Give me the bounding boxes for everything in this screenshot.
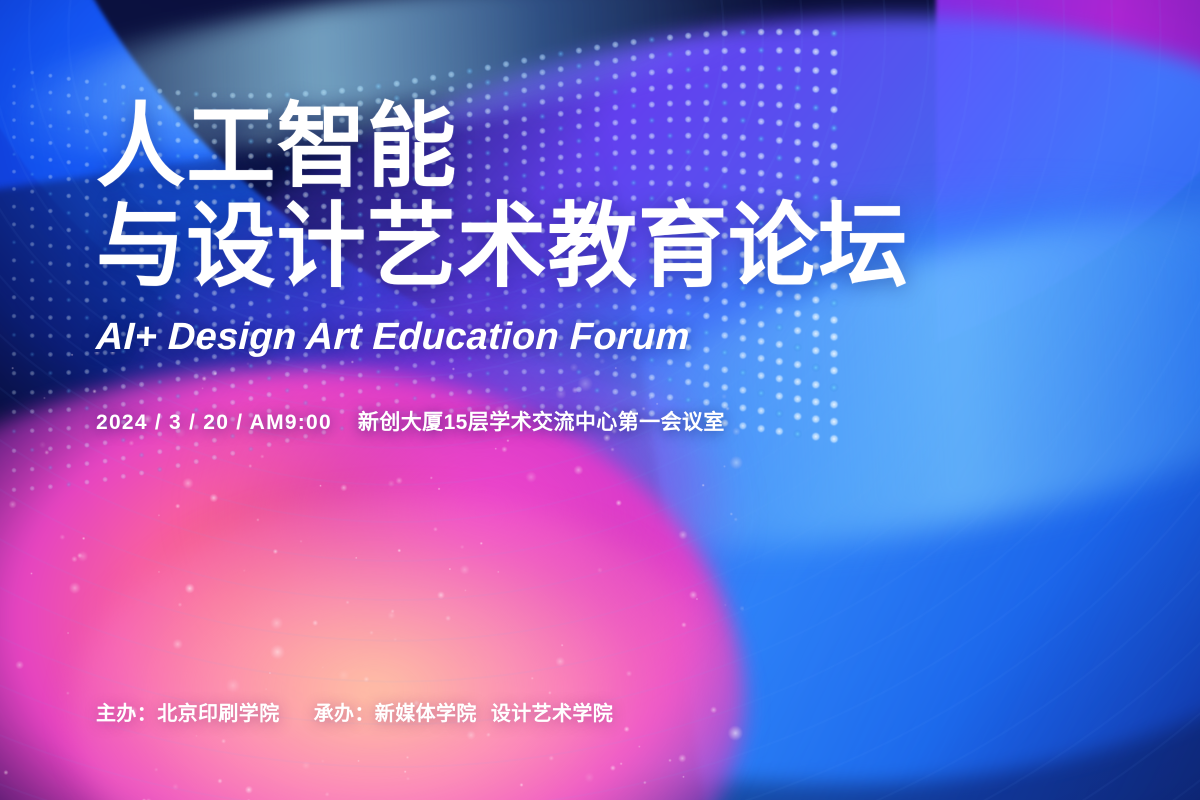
- poster-title-line-1: 人工智能: [96, 104, 909, 190]
- coorganizer-organization-2: 设计艺术学院: [491, 697, 613, 726]
- forum-poster: 人工智能 与设计艺术教育论坛 AI+ Design Art Education …: [0, 0, 1200, 800]
- title-block: 人工智能 与设计艺术教育论坛: [96, 104, 934, 291]
- event-date: 2024 / 3 / 20 / AM9:00: [96, 411, 332, 435]
- poster-title-line-2: 与设计艺术教育论坛: [96, 204, 909, 290]
- event-meta: 2024 / 3 / 20 / AM9:00 新创大厦15层学术交流中心第一会议…: [96, 406, 725, 436]
- coorganizer-organization: 承办：新媒体学院: [314, 697, 477, 726]
- host-organization: 主办：北京印刷学院: [96, 697, 280, 726]
- event-venue: 新创大厦15层学术交流中心第一会议室: [358, 406, 725, 436]
- poster-content: 人工智能 与设计艺术教育论坛 AI+ Design Art Education …: [0, 0, 1200, 800]
- organizers-row: 主办：北京印刷学院 承办：新媒体学院 设计艺术学院: [96, 697, 613, 726]
- poster-subtitle-english: AI+ Design Art Education Forum: [95, 316, 690, 359]
